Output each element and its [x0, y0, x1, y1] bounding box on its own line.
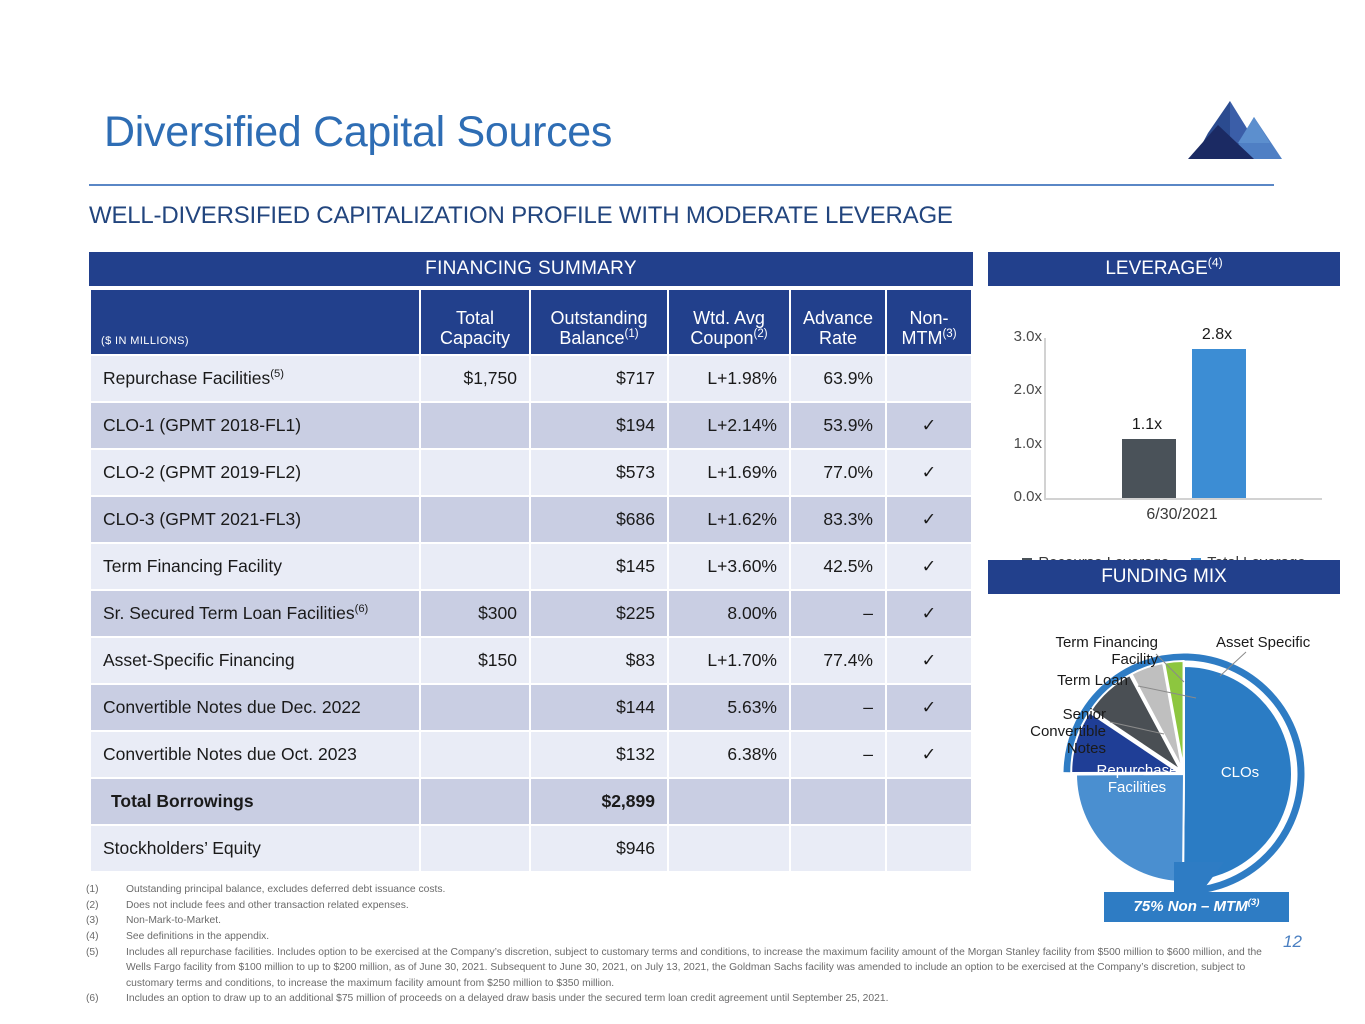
pie-label-asset-specific: Asset Specific: [1216, 634, 1340, 651]
bar-total-leverage: [1192, 349, 1246, 498]
cell-outstanding-balance: $717: [531, 356, 667, 401]
leverage-bar-chart: 0.0x1.0x2.0x3.0x 1.1x2.8x 6/30/2021 Reco…: [988, 286, 1340, 536]
cell-total-capacity: [421, 544, 529, 589]
table-row: Total Borrowings$2,899: [91, 779, 971, 824]
cell-total-capacity: [421, 826, 529, 871]
footnotes: (1)Outstanding principal balance, exclud…: [86, 882, 1266, 1007]
row-label: Repurchase Facilities(5): [91, 356, 419, 401]
table-row: Stockholders’ Equity$946: [91, 826, 971, 871]
check-icon: ✓: [887, 638, 971, 683]
page-number: 12: [1283, 932, 1302, 952]
footnote: (6)Includes an option to draw up to an a…: [86, 991, 1266, 1007]
bar-value-label: 2.8x: [1190, 326, 1244, 344]
mountain-logo: [1178, 97, 1282, 169]
row-label: Total Borrowings: [91, 779, 419, 824]
cell-outstanding-balance: $573: [531, 450, 667, 495]
cell-total-capacity: $150: [421, 638, 529, 683]
footnote-number: (4): [86, 929, 126, 945]
cell-total-capacity: [421, 450, 529, 495]
page-title: Diversified Capital Sources: [104, 108, 612, 157]
cell-outstanding-balance: $144: [531, 685, 667, 730]
cell-non-mtm: [887, 356, 971, 401]
financing-summary-table: FINANCING SUMMARY ($ IN MILLIONS) TotalC…: [89, 252, 973, 873]
leverage-panel: LEVERAGE(4) 0.0x1.0x2.0x3.0x 1.1x2.8x 6/…: [988, 252, 1340, 536]
cell-advance-rate: 53.9%: [791, 403, 885, 448]
y-axis-tick: 2.0x: [1014, 381, 1042, 398]
cell-total-capacity: [421, 497, 529, 542]
footnote-number: (2): [86, 898, 126, 914]
cell-outstanding-balance: $946: [531, 826, 667, 871]
column-header-units: ($ IN MILLIONS): [91, 290, 419, 354]
cell-total-capacity: $300: [421, 591, 529, 636]
cell-advance-rate: 42.5%: [791, 544, 885, 589]
cell-non-mtm: [887, 779, 971, 824]
footnote: (5)Includes all repurchase facilities. I…: [86, 945, 1266, 992]
table-banner: FINANCING SUMMARY: [89, 252, 973, 286]
row-label: Convertible Notes due Oct. 2023: [91, 732, 419, 777]
footnote: (2)Does not include fees and other trans…: [86, 898, 1266, 914]
funding-mix-panel: FUNDING MIX Term Financing Facility Term…: [988, 560, 1340, 924]
cell-wtd-avg-coupon: L+1.98%: [669, 356, 789, 401]
leverage-banner-label: LEVERAGE: [1105, 258, 1207, 279]
footnote-ref: (5): [270, 368, 284, 380]
footnote-ref-3: (3): [942, 328, 956, 340]
pie-label-senior-convertible-notes: Senior Convertible Notes: [988, 706, 1106, 757]
footnote-number: (3): [86, 913, 126, 929]
cell-advance-rate: –: [791, 732, 885, 777]
cell-total-capacity: [421, 685, 529, 730]
footnote-text: See definitions in the appendix.: [126, 929, 1266, 945]
cell-total-capacity: [421, 403, 529, 448]
table-row: Term Financing Facility$145L+3.60%42.5%✓: [91, 544, 971, 589]
footnote-number: (1): [86, 882, 126, 898]
cell-advance-rate: 77.4%: [791, 638, 885, 683]
cell-wtd-avg-coupon: L+1.62%: [669, 497, 789, 542]
cell-wtd-avg-coupon: L+2.14%: [669, 403, 789, 448]
check-icon: ✓: [887, 450, 971, 495]
bar-recourse-leverage: [1122, 439, 1176, 498]
footnote-ref: (6): [355, 603, 369, 615]
table-row: Convertible Notes due Dec. 2022$1445.63%…: [91, 685, 971, 730]
cell-wtd-avg-coupon: [669, 779, 789, 824]
cell-wtd-avg-coupon: [669, 826, 789, 871]
cell-outstanding-balance: $132: [531, 732, 667, 777]
cell-wtd-avg-coupon: L+1.69%: [669, 450, 789, 495]
cell-advance-rate: 63.9%: [791, 356, 885, 401]
cell-outstanding-balance: $145: [531, 544, 667, 589]
check-icon: ✓: [887, 732, 971, 777]
y-axis-tick: 3.0x: [1014, 328, 1042, 345]
footnote-ref-2: (2): [753, 328, 767, 340]
footnote: (1)Outstanding principal balance, exclud…: [86, 882, 1266, 898]
cell-wtd-avg-coupon: L+3.60%: [669, 544, 789, 589]
cell-wtd-avg-coupon: 8.00%: [669, 591, 789, 636]
pie-label-term-financing-facility: Term Financing Facility: [998, 634, 1158, 668]
cell-advance-rate: 83.3%: [791, 497, 885, 542]
cell-advance-rate: [791, 826, 885, 871]
row-label: Asset-Specific Financing: [91, 638, 419, 683]
footnote-text: Does not include fees and other transact…: [126, 898, 1266, 914]
cell-total-capacity: [421, 732, 529, 777]
table-row: Sr. Secured Term Loan Facilities(6)$300$…: [91, 591, 971, 636]
cell-advance-rate: –: [791, 685, 885, 730]
table-header-row: ($ IN MILLIONS) TotalCapacity Outstandin…: [91, 290, 971, 354]
row-label: Sr. Secured Term Loan Facilities(6): [91, 591, 419, 636]
footnote-number: (5): [86, 945, 126, 992]
x-axis-label: 6/30/2021: [1044, 506, 1320, 524]
column-header-outstanding-balance: OutstandingBalance(1): [531, 290, 667, 354]
table-row: Repurchase Facilities(5)$1,750$717L+1.98…: [91, 356, 971, 401]
cell-total-capacity: [421, 779, 529, 824]
footnote-ref-4: (4): [1208, 256, 1223, 270]
row-label: Stockholders’ Equity: [91, 826, 419, 871]
footnote-text: Includes all repurchase facilities. Incl…: [126, 945, 1266, 992]
table-row: CLO-3 (GPMT 2021-FL3)$686L+1.62%83.3%✓: [91, 497, 971, 542]
table-row: CLO-1 (GPMT 2018-FL1)$194L+2.14%53.9%✓: [91, 403, 971, 448]
y-axis-tick: 0.0x: [1014, 488, 1042, 505]
table-row: Convertible Notes due Oct. 2023$1326.38%…: [91, 732, 971, 777]
cell-outstanding-balance: $194: [531, 403, 667, 448]
pie-label-clos: CLOs: [1198, 764, 1282, 781]
page-subtitle: WELL-DIVERSIFIED CAPITALIZATION PROFILE …: [89, 202, 953, 230]
funding-banner: FUNDING MIX: [988, 560, 1340, 594]
title-divider: [89, 184, 1274, 186]
bar-plot-area: [1044, 338, 1322, 500]
cell-non-mtm: [887, 826, 971, 871]
check-icon: ✓: [887, 591, 971, 636]
cell-wtd-avg-coupon: 6.38%: [669, 732, 789, 777]
check-icon: ✓: [887, 403, 971, 448]
column-header-total-capacity: TotalCapacity: [421, 290, 529, 354]
bar-value-label: 1.1x: [1120, 416, 1174, 434]
y-axis-tick: 1.0x: [1014, 435, 1042, 452]
pie-label-term-loan: Term Loan: [988, 672, 1128, 689]
footnote: (3)Non-Mark-to-Market.: [86, 913, 1266, 929]
footnote-text: Includes an option to draw up to an addi…: [126, 991, 1266, 1007]
column-header-advance-rate: AdvanceRate: [791, 290, 885, 354]
leverage-banner: LEVERAGE(4): [988, 252, 1340, 286]
footnote-text: Outstanding principal balance, excludes …: [126, 882, 1266, 898]
row-label: Convertible Notes due Dec. 2022: [91, 685, 419, 730]
cell-outstanding-balance: $83: [531, 638, 667, 683]
row-label: CLO-3 (GPMT 2021-FL3): [91, 497, 419, 542]
cell-outstanding-balance: $225: [531, 591, 667, 636]
cell-advance-rate: –: [791, 591, 885, 636]
footnote-ref-1: (1): [624, 328, 638, 340]
units-label: ($ IN MILLIONS): [101, 335, 189, 347]
row-label: CLO-2 (GPMT 2019-FL2): [91, 450, 419, 495]
check-icon: ✓: [887, 544, 971, 589]
check-icon: ✓: [887, 497, 971, 542]
cell-wtd-avg-coupon: L+1.70%: [669, 638, 789, 683]
cell-outstanding-balance: $686: [531, 497, 667, 542]
pie-label-repurchase-facilities: Repurchase Facilities: [1084, 762, 1190, 796]
column-header-wtd-avg-coupon: Wtd. AvgCoupon(2): [669, 290, 789, 354]
check-icon: ✓: [887, 685, 971, 730]
footnote-text: Non-Mark-to-Market.: [126, 913, 1266, 929]
cell-advance-rate: 77.0%: [791, 450, 885, 495]
cell-outstanding-balance: $2,899: [531, 779, 667, 824]
footnote-number: (6): [86, 991, 126, 1007]
cell-total-capacity: $1,750: [421, 356, 529, 401]
table-row: CLO-2 (GPMT 2019-FL2)$573L+1.69%77.0%✓: [91, 450, 971, 495]
cell-advance-rate: [791, 779, 885, 824]
footnote: (4)See definitions in the appendix.: [86, 929, 1266, 945]
row-label: Term Financing Facility: [91, 544, 419, 589]
row-label: CLO-1 (GPMT 2018-FL1): [91, 403, 419, 448]
funding-mix-pie-chart: Term Financing Facility Term Loan Senior…: [988, 594, 1340, 924]
cell-wtd-avg-coupon: 5.63%: [669, 685, 789, 730]
column-header-non-mtm: Non-MTM(3): [887, 290, 971, 354]
table-row: Asset-Specific Financing$150$83L+1.70%77…: [91, 638, 971, 683]
